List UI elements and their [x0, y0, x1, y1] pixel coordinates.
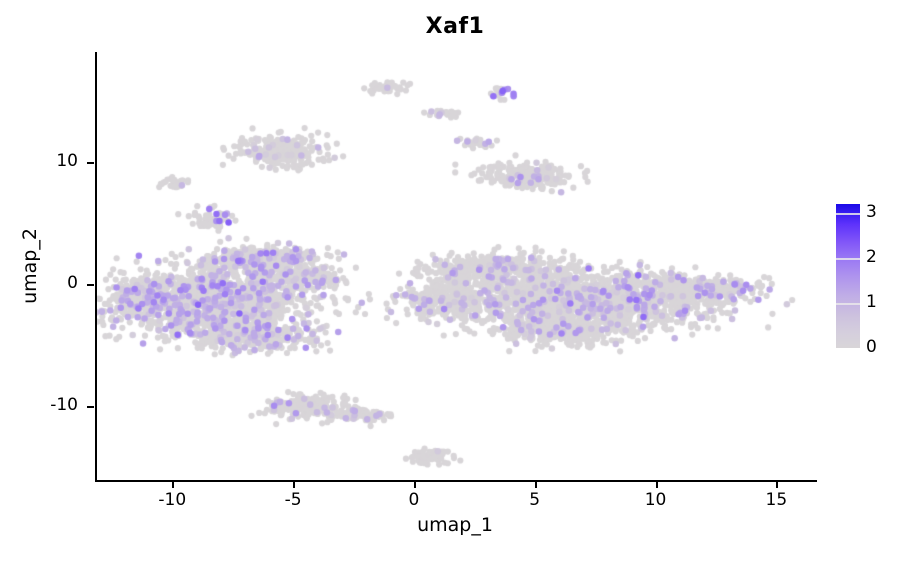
- colorbar-tick-mark: [836, 303, 860, 305]
- x-tick-label: -5: [263, 490, 323, 510]
- x-tick-label: -10: [142, 490, 202, 510]
- figure-canvas: Xaf1 -10-5051015 100-10 umap_1 umap_2 32…: [0, 0, 911, 562]
- colorbar-gradient: [836, 204, 860, 348]
- y-tick-mark: [87, 162, 94, 164]
- colorbar-tick-label: 2: [866, 247, 877, 267]
- y-tick-label: 10: [16, 151, 78, 171]
- y-tick-label: -10: [16, 395, 78, 415]
- colorbar: [836, 204, 860, 348]
- colorbar-tick-mark: [836, 213, 860, 215]
- colorbar-tick-label: 3: [866, 202, 877, 222]
- x-tick-mark: [776, 482, 778, 488]
- x-tick-mark: [414, 482, 416, 488]
- y-axis-label: umap_2: [19, 196, 41, 336]
- scatter-points-layer: [95, 52, 815, 480]
- colorbar-tick-mark: [836, 258, 860, 260]
- colorbar-tick-label: 1: [866, 292, 877, 312]
- plot-area: [95, 52, 815, 480]
- colorbar-tick-label: 0: [866, 337, 877, 357]
- x-tick-mark: [656, 482, 658, 488]
- x-tick-label: 15: [746, 490, 806, 510]
- x-axis-spine: [95, 480, 817, 482]
- chart-title: Xaf1: [95, 14, 815, 39]
- y-tick-mark: [87, 284, 94, 286]
- x-axis-label: umap_1: [95, 514, 815, 536]
- y-tick-mark: [87, 406, 94, 408]
- x-tick-label: 5: [505, 490, 565, 510]
- x-tick-label: 10: [626, 490, 686, 510]
- x-tick-label: 0: [384, 490, 444, 510]
- x-tick-mark: [535, 482, 537, 488]
- x-tick-mark: [293, 482, 295, 488]
- y-axis-spine: [95, 52, 97, 482]
- x-tick-mark: [172, 482, 174, 488]
